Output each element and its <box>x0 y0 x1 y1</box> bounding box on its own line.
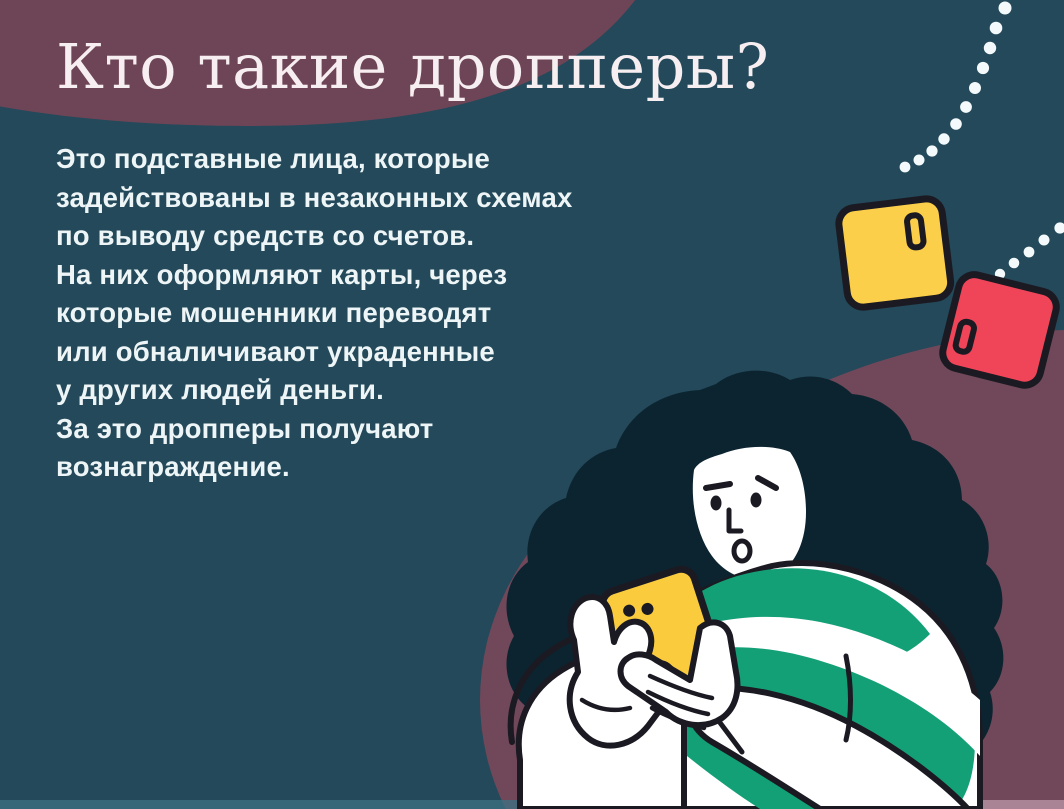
woman-eyebrow-left-icon <box>706 484 730 488</box>
woman-figure-icon <box>506 371 1003 809</box>
dotted-trail-upper-icon <box>900 2 1012 173</box>
woman-eye-left-icon <box>711 496 722 511</box>
illustration <box>0 0 1064 809</box>
yellow-bank-card-icon <box>837 197 952 309</box>
pink-bank-card-icon <box>939 271 1059 388</box>
woman-eye-right-icon <box>751 493 762 508</box>
infographic-poster: Кто такие дропперы? Это подставные лица,… <box>0 0 1064 809</box>
